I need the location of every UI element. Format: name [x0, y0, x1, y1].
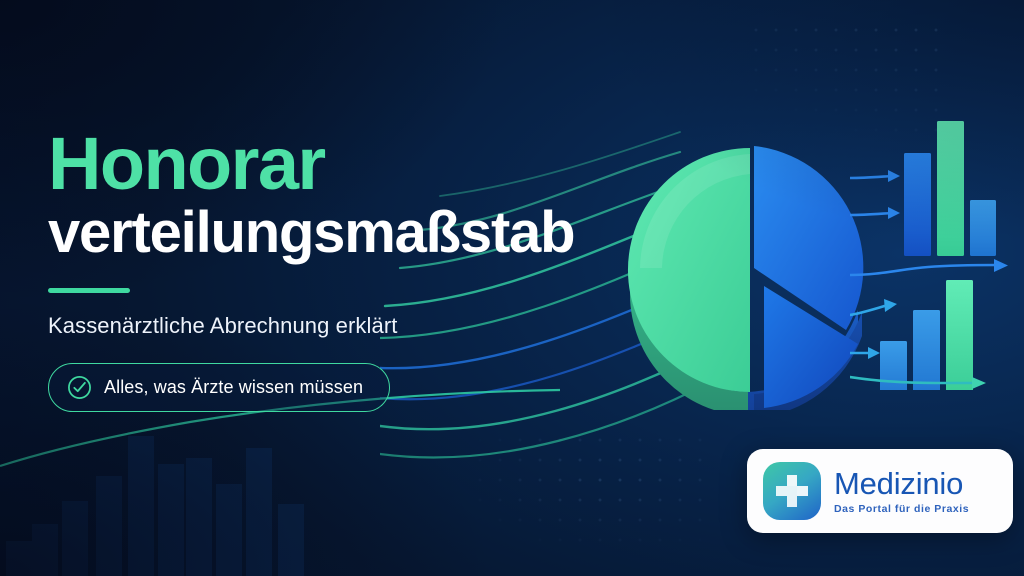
status-badge[interactable]: Alles, was Ärzte wissen müssen [48, 363, 390, 412]
bar-group-bottom [880, 280, 973, 390]
brand-name: Medizinio [834, 468, 969, 499]
check-circle-icon [67, 375, 92, 400]
medical-cross-icon [763, 462, 821, 520]
brand-logo-card[interactable]: Medizinio Das Portal für die Praxis [747, 449, 1013, 533]
bar-group-top [904, 121, 996, 256]
page-title-line2: verteilungsmaßstab [48, 203, 668, 262]
bar-charts-and-arrows [850, 115, 1024, 390]
brand-tagline: Das Portal für die Praxis [834, 503, 969, 515]
hero-banner: Honorar verteilungsmaßstab Kassenärztlic… [0, 0, 1024, 576]
page-title-line1: Honorar [48, 128, 668, 199]
page-subtitle: Kassenärztliche Abrechnung erklärt [48, 313, 668, 339]
status-badge-label: Alles, was Ärzte wissen müssen [104, 377, 363, 398]
title-accent-rule [48, 288, 130, 293]
hero-copy: Honorar verteilungsmaßstab Kassenärztlic… [48, 128, 668, 412]
